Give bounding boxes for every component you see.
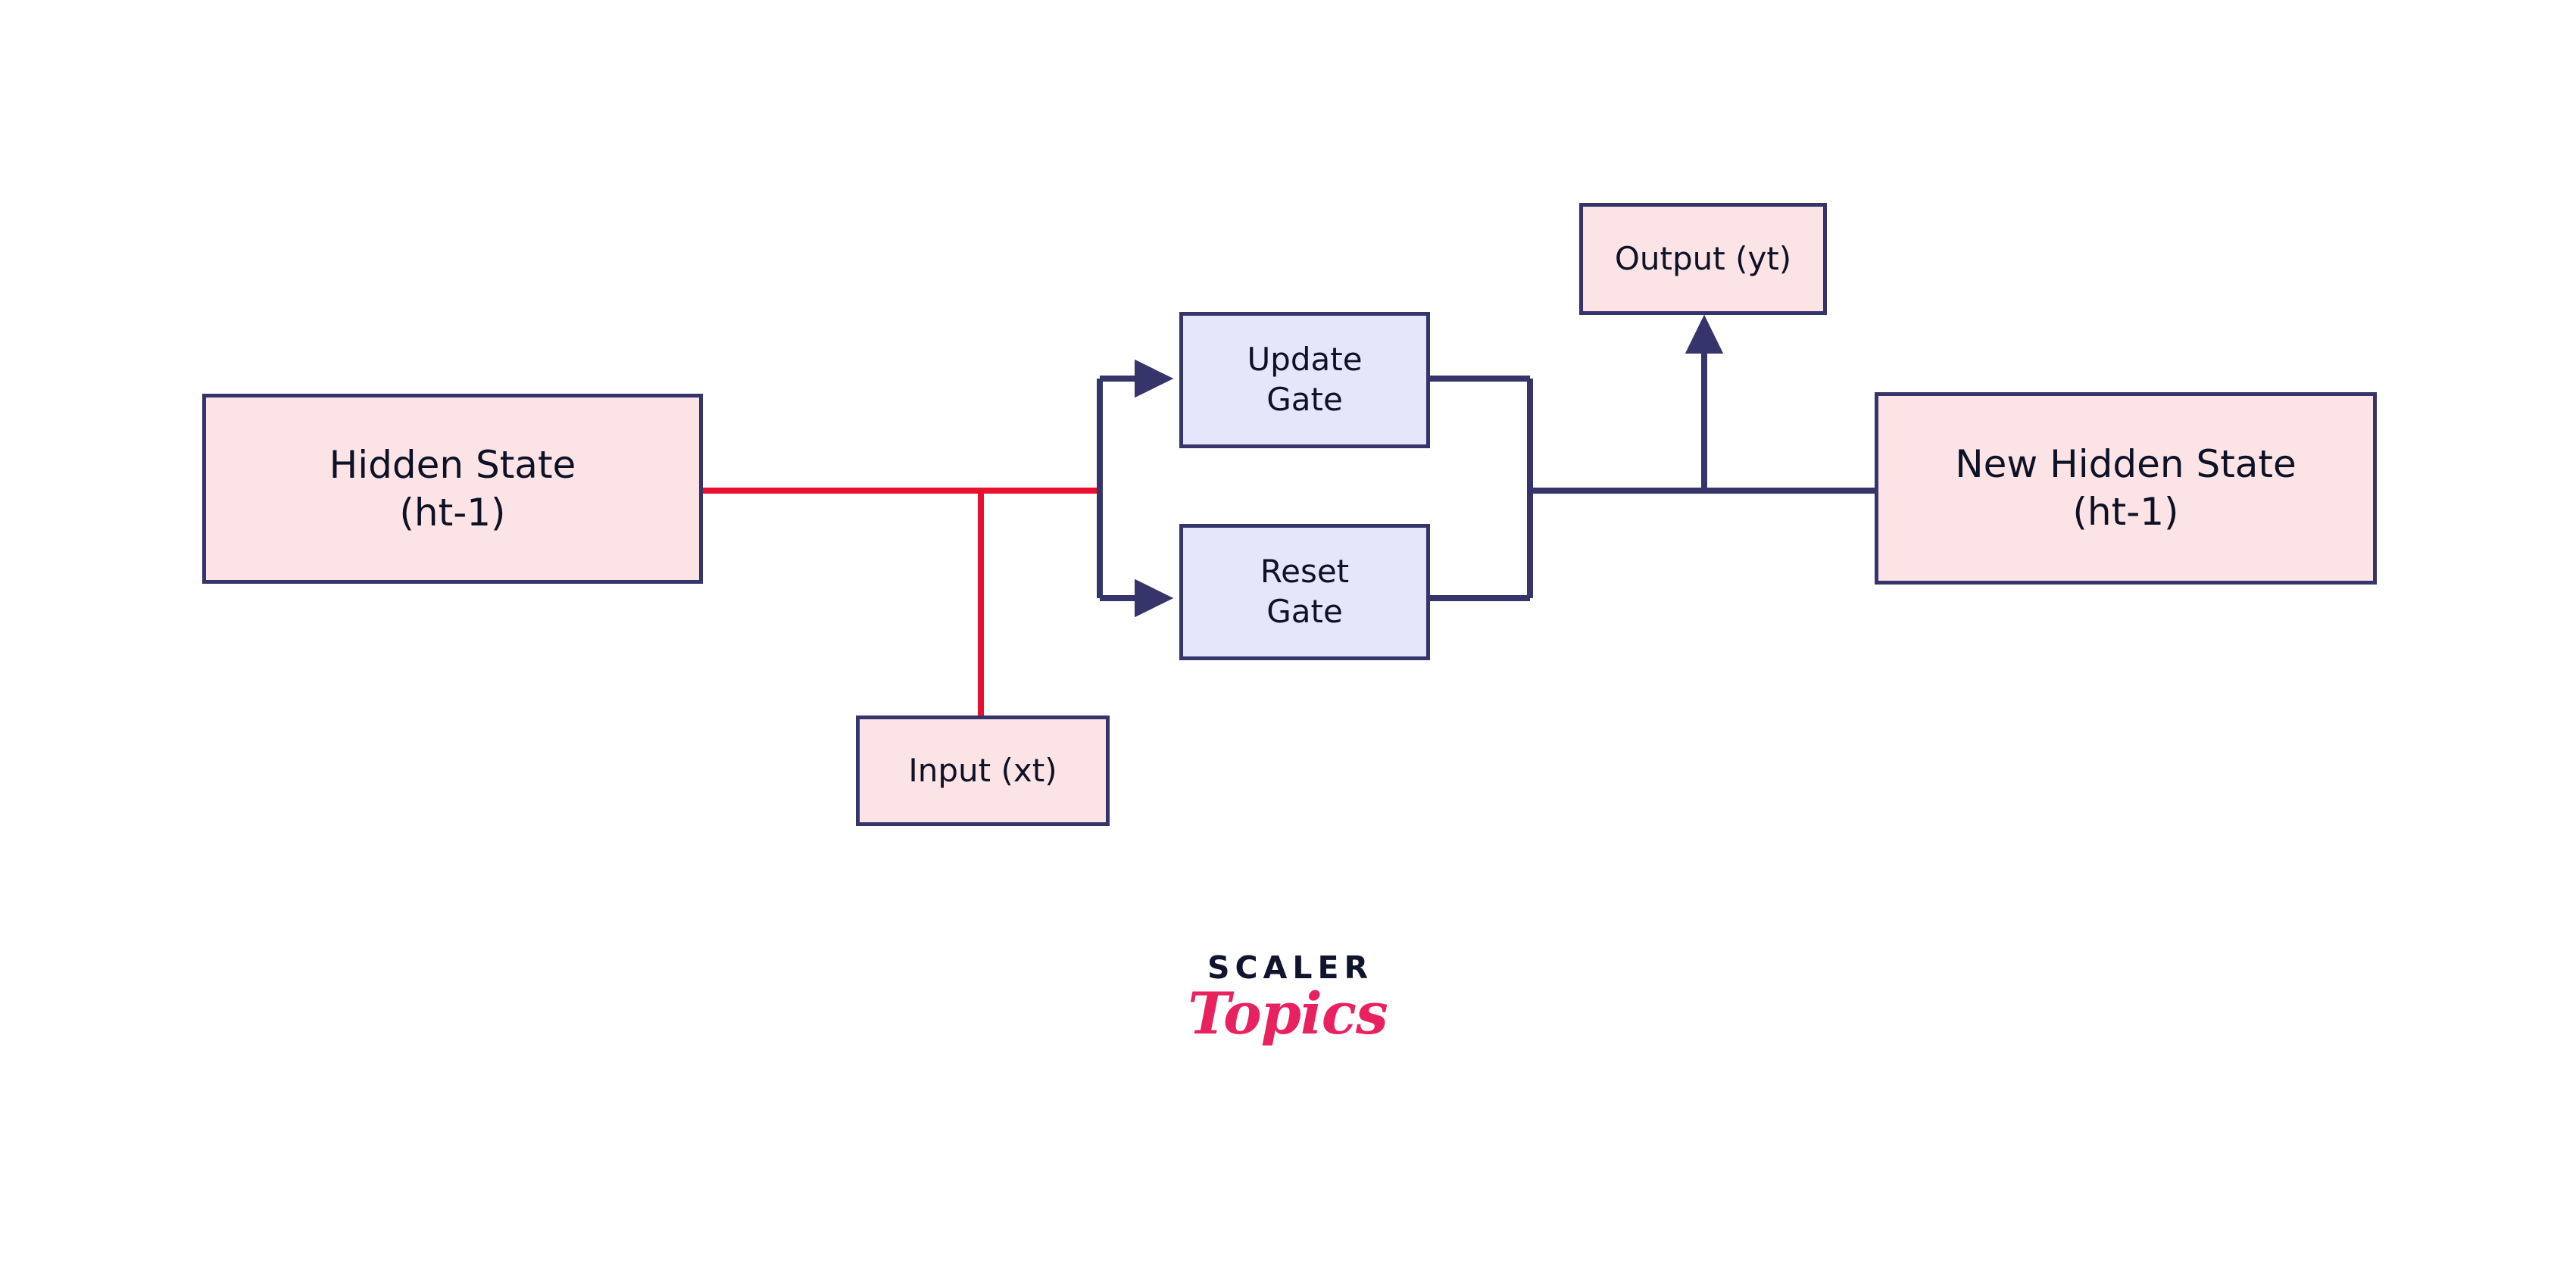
node-new-hidden-state-line2: (ht-1) [2072, 488, 2178, 536]
node-reset-gate: Reset Gate [1179, 524, 1430, 660]
logo-primary-text: SCALER [1166, 952, 1409, 984]
node-new-hidden-state: New Hidden State (ht-1) [1875, 392, 2377, 585]
node-new-hidden-state-line1: New Hidden State [1955, 441, 2297, 488]
node-hidden-state-line2: (ht-1) [399, 489, 505, 537]
logo-secondary-text: Topics [1166, 985, 1409, 1043]
node-reset-gate-line2: Gate [1266, 592, 1343, 632]
diagram-canvas: Hidden State (ht-1) Update Gate Reset Ga… [0, 0, 2576, 1272]
node-reset-gate-line1: Reset [1260, 552, 1349, 592]
node-update-gate-line2: Gate [1266, 380, 1343, 420]
node-hidden-state: Hidden State (ht-1) [202, 394, 703, 584]
node-input: Input (xt) [856, 715, 1110, 826]
node-output: Output (yt) [1579, 203, 1827, 315]
scaler-topics-logo: SCALER Topics [1166, 952, 1409, 1081]
node-input-line1: Input (xt) [908, 751, 1057, 791]
node-output-line1: Output (yt) [1615, 239, 1791, 279]
node-update-gate: Update Gate [1179, 312, 1430, 448]
node-hidden-state-line1: Hidden State [329, 441, 576, 489]
node-update-gate-line1: Update [1247, 340, 1362, 380]
